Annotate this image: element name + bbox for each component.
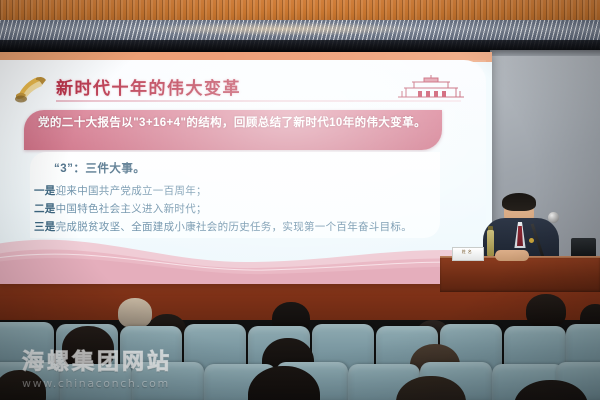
wood-panel-wall	[0, 0, 600, 22]
desk-monitor	[571, 238, 596, 258]
title-underline	[56, 100, 461, 102]
speaker-hands	[495, 250, 529, 261]
list-item: 一是迎来中国共产党成立一百周年；	[34, 182, 444, 200]
projection-screen: 新时代十年的伟大变革	[0, 52, 492, 284]
wave-shape	[0, 232, 486, 284]
great-hall-building-icon	[396, 74, 466, 100]
head-table	[440, 258, 600, 292]
audience-seating-rows	[0, 300, 600, 400]
attendee-head	[526, 294, 566, 328]
ceiling-light-glow	[130, 22, 430, 36]
microphone-icon	[548, 212, 559, 223]
slide-title-row: 新时代十年的伟大变革	[12, 72, 472, 106]
seat	[60, 364, 132, 400]
water-bottle	[487, 230, 494, 256]
presentation-slide: 新时代十年的伟大变革	[0, 60, 486, 284]
bullet-text: 中国特色社会主义进入新时代；	[56, 203, 207, 215]
lapel-badge	[529, 238, 534, 243]
attendee-head	[118, 298, 152, 328]
slide-wave-decoration	[0, 232, 486, 284]
slide-bullet-list: 一是迎来中国共产党成立一百周年； 二是中国特色社会主义进入新时代； 三是完成脱贫…	[34, 182, 444, 236]
nameplate-text: 姓 名	[452, 249, 482, 255]
conference-photo: 新时代十年的伟大变革	[0, 0, 600, 400]
seat	[132, 362, 204, 400]
speaker-hair	[502, 193, 536, 211]
highlight-banner: 党的二十大报告以"3+16+4"的结构，回顾总结了新时代10年的伟大变革。	[24, 110, 442, 150]
side-wall-trim	[490, 50, 600, 56]
bullet-marker: 二是	[34, 203, 56, 215]
ribbon-icon	[14, 74, 48, 104]
bullet-marker: 一是	[34, 185, 56, 197]
bullet-text: 迎来中国共产党成立一百周年；	[56, 185, 207, 197]
highlight-banner-text: 党的二十大报告以"3+16+4"的结构，回顾总结了新时代10年的伟大变革。	[38, 116, 430, 131]
page-title: 新时代十年的伟大变革	[56, 74, 241, 99]
list-item: 二是中国特色社会主义进入新时代；	[34, 200, 444, 218]
slide-lead-line: “3”：三件大事。	[54, 160, 145, 176]
